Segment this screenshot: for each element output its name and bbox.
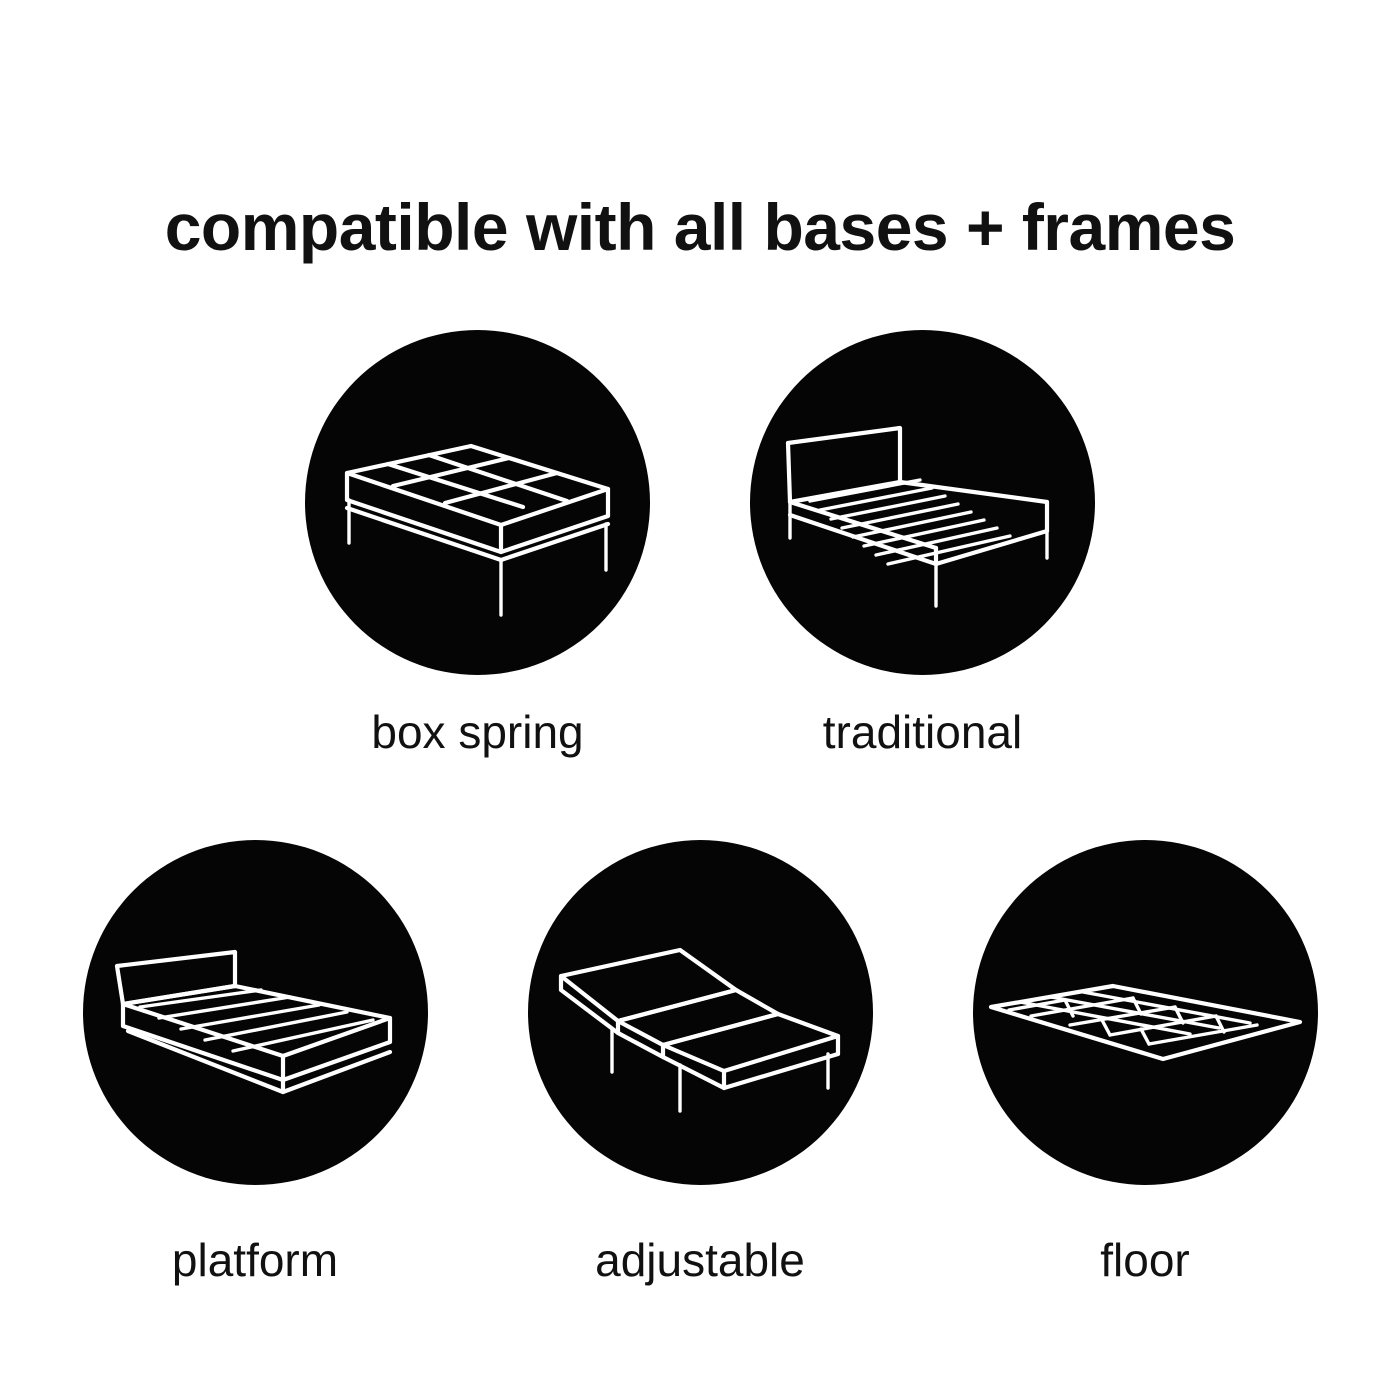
badge-adjustable[interactable]: adjustable — [528, 840, 873, 1286]
platform-bed-icon — [83, 840, 428, 1185]
floor-icon — [973, 840, 1318, 1185]
badge-label-box-spring: box spring — [371, 707, 583, 758]
badge-disc-floor — [973, 840, 1318, 1185]
page-title: compatible with all bases + frames — [0, 194, 1400, 260]
badge-disc-traditional — [750, 330, 1095, 675]
badge-label-platform: platform — [172, 1235, 338, 1286]
traditional-bed-icon — [750, 330, 1095, 675]
badge-label-traditional: traditional — [823, 707, 1022, 758]
compatibility-infographic: compatible with all bases + frames — [0, 0, 1400, 1400]
badge-label-adjustable: adjustable — [595, 1235, 805, 1286]
badge-row-top: box spring — [0, 330, 1400, 758]
adjustable-bed-icon — [528, 840, 873, 1185]
box-spring-icon — [305, 330, 650, 675]
badge-platform[interactable]: platform — [83, 840, 428, 1286]
badge-box-spring[interactable]: box spring — [305, 330, 650, 758]
badge-disc-platform — [83, 840, 428, 1185]
badge-floor[interactable]: floor — [973, 840, 1318, 1286]
badge-row-bottom: platform — [0, 840, 1400, 1286]
badge-disc-adjustable — [528, 840, 873, 1185]
badge-label-floor: floor — [1100, 1235, 1189, 1286]
badge-disc-box-spring — [305, 330, 650, 675]
badge-traditional[interactable]: traditional — [750, 330, 1095, 758]
